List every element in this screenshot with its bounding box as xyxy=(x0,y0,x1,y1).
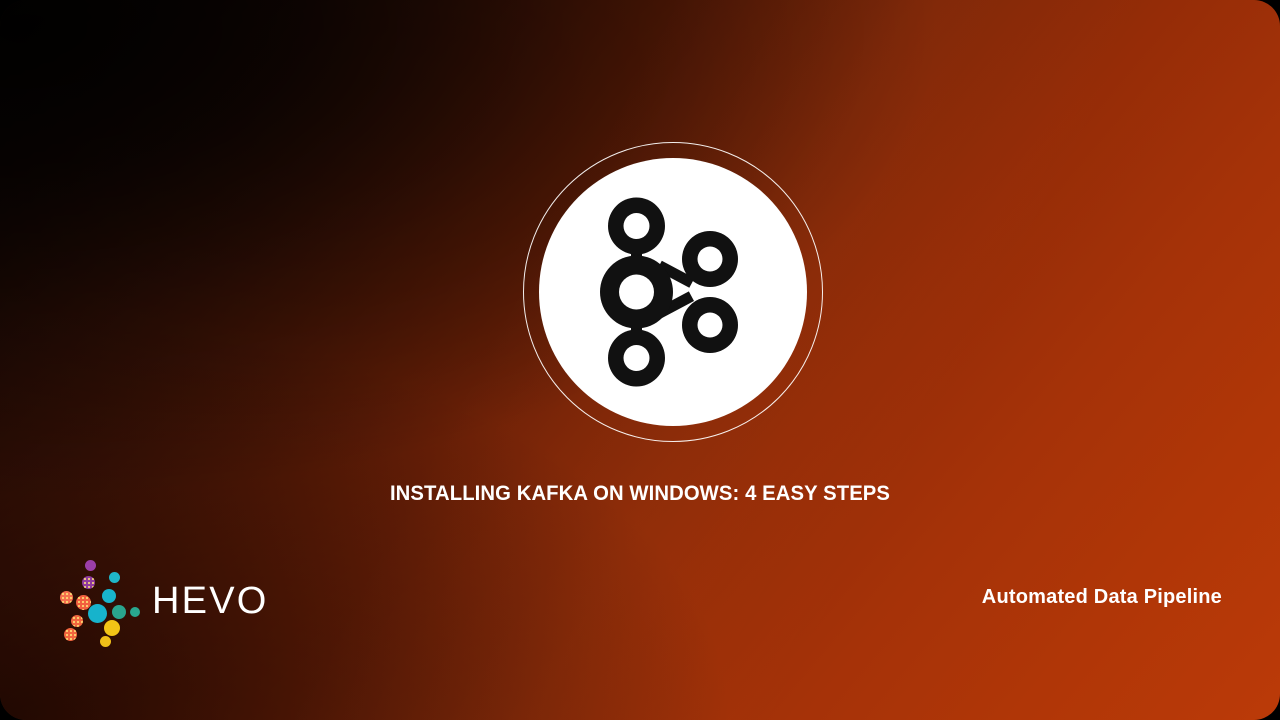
logo-dot-7 xyxy=(88,604,107,623)
emblem-white-disc xyxy=(539,158,807,426)
logo-dot-8 xyxy=(112,605,126,619)
logo-dot-13 xyxy=(100,636,111,647)
tagline: Automated Data Pipeline xyxy=(982,586,1222,609)
logo-dot-10 xyxy=(71,615,83,627)
hevo-dots-logo-icon xyxy=(58,558,140,646)
page-title: Installing Kafka on Windows: 4 Easy Step… xyxy=(22,482,1257,506)
brand-name: HEVO xyxy=(152,582,269,620)
logo-dot-1 xyxy=(85,560,96,571)
brand-logo[interactable]: HEVO xyxy=(58,556,288,648)
kafka-emblem xyxy=(523,142,823,442)
logo-dot-5 xyxy=(60,591,73,604)
slide-canvas: Installing Kafka on Windows: 4 Easy Step… xyxy=(0,0,1280,720)
logo-dot-11 xyxy=(104,620,120,636)
apache-kafka-logo-icon xyxy=(599,196,747,388)
logo-dot-2 xyxy=(82,576,95,589)
logo-dot-3 xyxy=(109,572,120,583)
logo-dot-9 xyxy=(130,607,140,617)
logo-dot-4 xyxy=(102,589,116,603)
logo-dot-12 xyxy=(64,628,77,641)
